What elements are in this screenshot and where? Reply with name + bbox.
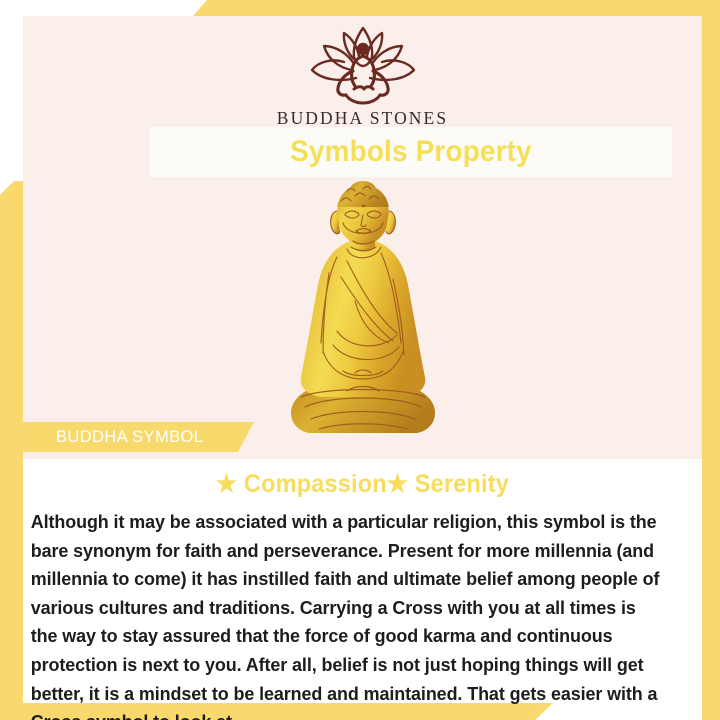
body-paragraph: Although it may be associated with a par…: [23, 499, 678, 720]
decor-left-bar: [0, 181, 23, 703]
page-title: Symbols Property: [290, 135, 532, 169]
infographic-poster: BUDDHA STONES Symbols Property: [0, 0, 720, 720]
buddha-symbol-ribbon: BUDDHA SYMBOL: [23, 422, 254, 452]
hero-panel: BUDDHA STONES Symbols Property: [23, 16, 702, 459]
virtues-heading: ★ Compassion★ Serenity: [43, 459, 681, 499]
decor-right-bar: [702, 16, 720, 720]
buddha-illustration: [23, 181, 702, 439]
buddha-symbol-label: BUDDHA SYMBOL: [56, 428, 203, 447]
decor-top-right-band: [193, 0, 720, 16]
lotus-meditation-figure-icon: [296, 24, 430, 106]
title-band: Symbols Property: [150, 127, 672, 177]
content-panel: ★ Compassion★ Serenity Although it may b…: [23, 459, 702, 703]
brand-lockup: BUDDHA STONES: [23, 24, 702, 129]
brand-name: BUDDHA STONES: [277, 108, 448, 129]
golden-seated-buddha-statue-icon: [277, 181, 449, 439]
